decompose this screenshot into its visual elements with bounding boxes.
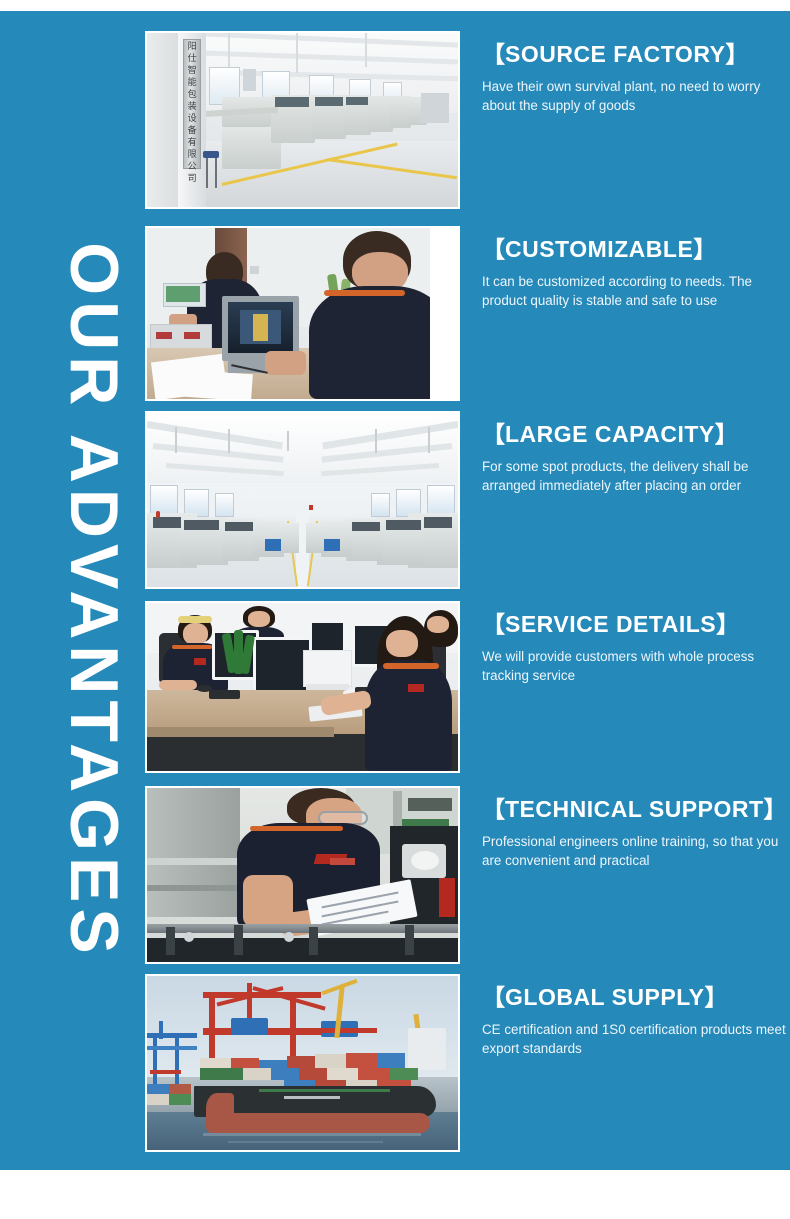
advantage-row-customizable: 【CUSTOMIZABLE】 It can be customized acco… [145,226,790,401]
advantage-title: GLOBAL SUPPLY [505,984,704,1010]
advantage-title: TECHNICAL SUPPORT [505,796,764,822]
container-ship-image [147,976,458,1150]
advantage-title: SOURCE FACTORY [505,41,725,67]
bracket-close-icon: 】 [725,41,748,67]
factory-hall-image: 阳仕智能包装设备有限公司 [147,33,458,207]
advantage-image-large-capacity [145,411,460,589]
bracket-open-icon: 【 [482,611,505,637]
advantage-row-large-capacity: 【LARGE CAPACITY】 For some spot products,… [145,411,790,589]
advantage-description: Have their own survival plant, no need t… [482,78,790,115]
bracket-close-icon: 】 [764,796,787,822]
advantage-description: It can be customized according to needs.… [482,273,790,310]
bracket-open-icon: 【 [482,421,505,447]
office-staff-image [147,603,458,771]
advantage-text-global-supply: 【GLOBAL SUPPLY】 CE certification and 1S0… [482,974,790,1058]
advantage-image-source-factory: 阳仕智能包装设备有限公司 [145,31,460,209]
advantage-text-technical-support: 【TECHNICAL SUPPORT】 Professional enginee… [482,786,790,870]
advantage-row-service-details: 【SERVICE DETAILS】 We will provide custom… [145,601,790,773]
advantage-text-customizable: 【CUSTOMIZABLE】 It can be customized acco… [482,226,790,310]
advantage-heading-global-supply: 【GLOBAL SUPPLY】 [482,984,790,1010]
advantages-page: OUR ADVANTAGES [0,0,790,1219]
advantage-text-large-capacity: 【LARGE CAPACITY】 For some spot products,… [482,411,790,495]
bracket-close-icon: 】 [693,236,716,262]
advantage-image-customizable [145,226,460,401]
bracket-open-icon: 【 [482,236,505,262]
advantage-description: CE certification and 1S0 certification p… [482,1021,790,1058]
advantage-heading-technical-support: 【TECHNICAL SUPPORT】 [482,796,790,822]
advantage-text-service-details: 【SERVICE DETAILS】 We will provide custom… [482,601,790,685]
advantage-row-source-factory: 阳仕智能包装设备有限公司 【SOURCE FACTORY】 Have their… [145,31,790,209]
advantage-image-technical-support [145,786,460,964]
advantage-title: SERVICE DETAILS [505,611,716,637]
advantage-description: We will provide customers with whole pro… [482,648,790,685]
bracket-open-icon: 【 [482,41,505,67]
bracket-open-icon: 【 [482,796,505,822]
blue-panel: OUR ADVANTAGES [0,11,790,1170]
bracket-open-icon: 【 [482,984,505,1010]
technician-inspection-image [147,788,458,962]
advantage-description: For some spot products, the delivery sha… [482,458,790,495]
advantage-heading-source-factory: 【SOURCE FACTORY】 [482,41,790,67]
page-title-vertical: OUR ADVANTAGES [49,191,139,1011]
engineers-design-image [147,228,458,399]
advantage-heading-service-details: 【SERVICE DETAILS】 [482,611,790,637]
advantage-row-technical-support: 【TECHNICAL SUPPORT】 Professional enginee… [145,786,790,964]
advantage-heading-customizable: 【CUSTOMIZABLE】 [482,236,790,262]
advantage-description: Professional engineers online training, … [482,833,790,870]
bracket-close-icon: 】 [704,984,727,1010]
advantage-image-service-details [145,601,460,773]
advantage-title: CUSTOMIZABLE [505,236,693,262]
advantage-heading-large-capacity: 【LARGE CAPACITY】 [482,421,790,447]
advantage-title: LARGE CAPACITY [505,421,715,447]
advantage-image-global-supply [145,974,460,1152]
large-workshop-image [147,413,458,587]
advantage-row-global-supply: 【GLOBAL SUPPLY】 CE certification and 1S0… [145,974,790,1152]
bracket-close-icon: 】 [715,421,738,447]
bracket-close-icon: 】 [716,611,739,637]
advantage-text-source-factory: 【SOURCE FACTORY】 Have their own survival… [482,31,790,115]
